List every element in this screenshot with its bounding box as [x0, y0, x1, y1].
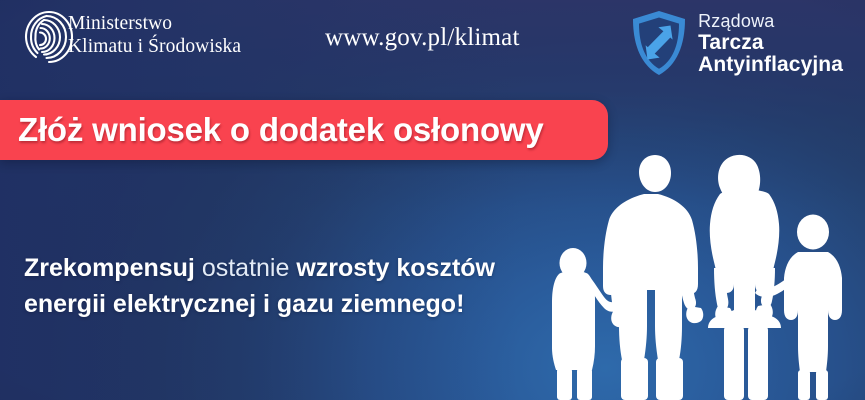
website-url[interactable]: www.gov.pl/klimat [325, 24, 520, 52]
cta-headline: Złóż wniosek o dodatek osłonowy [0, 111, 544, 149]
body-copy-part-1: Zrekompensuj [24, 254, 202, 282]
cta-red-banner[interactable]: Złóż wniosek o dodatek osłonowy [0, 100, 608, 160]
ministry-name: Ministerstwo Klimatu i Środowiska [68, 12, 241, 58]
shield-text-line-1: Rządowa [698, 12, 843, 32]
father-silhouette [603, 155, 703, 400]
anti-inflation-shield-text: Rządowa Tarcza Antyinflacyjna [698, 12, 843, 75]
family-silhouette-group [548, 150, 865, 400]
shield-text-line-3: Antyinflacyjna [698, 54, 843, 75]
shield-text-line-2: Tarcza [698, 32, 843, 54]
body-copy: Zrekompensuj ostatnie wzrosty kosztów en… [24, 250, 544, 322]
promo-banner: Ministerstwo Klimatu i Środowiska www.go… [0, 0, 865, 400]
banner-header: Ministerstwo Klimatu i Środowiska www.go… [0, 0, 865, 96]
anti-inflation-shield-logo: Rządowa Tarcza Antyinflacyjna [629, 6, 843, 80]
mother-silhouette [708, 155, 781, 400]
shield-with-double-arrow-icon [629, 9, 689, 77]
body-copy-part-2: ostatnie [202, 254, 297, 282]
